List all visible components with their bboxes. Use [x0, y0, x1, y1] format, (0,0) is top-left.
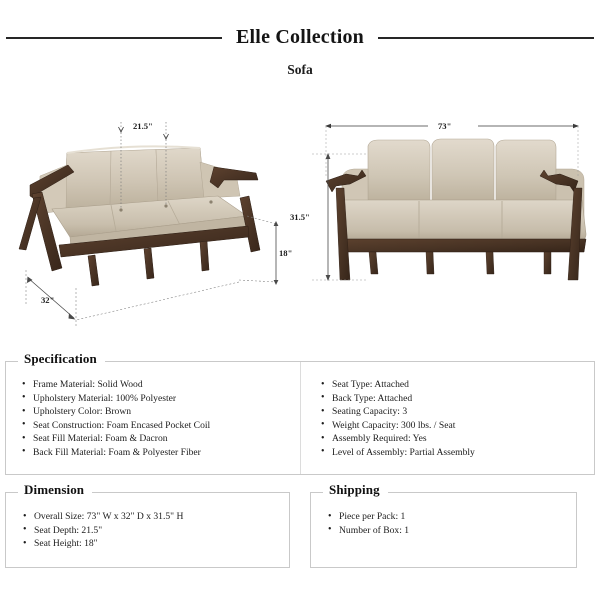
list-item: Back Fill Material: Foam & Polyester Fib… [22, 446, 294, 460]
list-item: Level of Assembly: Partial Assembly [321, 446, 588, 460]
list-item: Seat Depth: 21.5" [23, 524, 279, 538]
page-title: Elle Collection [236, 26, 364, 49]
page-header: Elle Collection Sofa [0, 26, 600, 78]
list-item: Weight Capacity: 300 lbs. / Seat [321, 419, 588, 433]
specification-list-left: Frame Material: Solid Wood Upholstery Ma… [22, 378, 294, 460]
callout-label-seat-depth: 21.5" [133, 121, 153, 131]
list-item: Overall Size: 73" W x 32" D x 31.5" H [23, 510, 279, 524]
tuft-button [209, 200, 212, 203]
seat-cushions [340, 200, 586, 241]
specification-list-right: Seat Type: Attached Back Type: Attached … [321, 378, 588, 460]
list-item: Seating Capacity: 3 [321, 405, 588, 419]
list-item: Number of Box: 1 [328, 524, 566, 538]
callout-label-seat-height: 18" [279, 248, 292, 258]
title-rule-left [6, 37, 222, 39]
sofa-front-view: 73" 31.5" [306, 108, 598, 288]
list-item: Assembly Required: Yes [321, 432, 588, 446]
list-item: Back Type: Attached [321, 392, 588, 406]
list-item: Seat Type: Attached [321, 378, 588, 392]
list-item: Upholstery Material: 100% Polyester [22, 392, 294, 406]
list-item: Upholstery Color: Brown [22, 405, 294, 419]
title-row: Elle Collection [0, 26, 600, 49]
tuft-button [119, 208, 122, 211]
dimension-list: Overall Size: 73" W x 32" D x 31.5" H Se… [23, 510, 279, 551]
list-item: Seat Construction: Foam Encased Pocket C… [22, 419, 294, 433]
product-spec-sheet: Elle Collection Sofa [0, 0, 600, 600]
shipping-box: Shipping Piece per Pack: 1 Number of Box… [310, 492, 577, 568]
figures-area: 21.5" 18" [0, 100, 600, 350]
callout-label-depth: 32" [41, 295, 54, 305]
title-rule-right [378, 37, 594, 39]
specification-column-left: Frame Material: Solid Wood Upholstery Ma… [6, 362, 300, 474]
dimension-box: Dimension Overall Size: 73" W x 32" D x … [5, 492, 290, 568]
list-item: Seat Height: 18" [23, 537, 279, 551]
shipping-legend: Shipping [323, 482, 388, 498]
callout-depth [26, 270, 239, 326]
sofa-perspective-view: 21.5" 18" [4, 110, 304, 350]
dimension-legend: Dimension [18, 482, 92, 498]
base-rail [340, 239, 586, 252]
shipping-list: Piece per Pack: 1 Number of Box: 1 [328, 510, 566, 537]
tuft-button [164, 204, 167, 207]
callout-label-width: 73" [438, 121, 451, 131]
callout-label-height: 31.5" [290, 212, 310, 222]
list-item: Seat Fill Material: Foam & Dacron [22, 432, 294, 446]
page-subtitle: Sofa [0, 62, 600, 78]
list-item: Piece per Pack: 1 [328, 510, 566, 524]
specification-legend: Specification [18, 351, 105, 367]
specification-column-right: Seat Type: Attached Back Type: Attached … [300, 362, 594, 474]
specification-box: Specification Frame Material: Solid Wood… [5, 361, 595, 475]
list-item: Frame Material: Solid Wood [22, 378, 294, 392]
backrest-group [368, 139, 556, 200]
